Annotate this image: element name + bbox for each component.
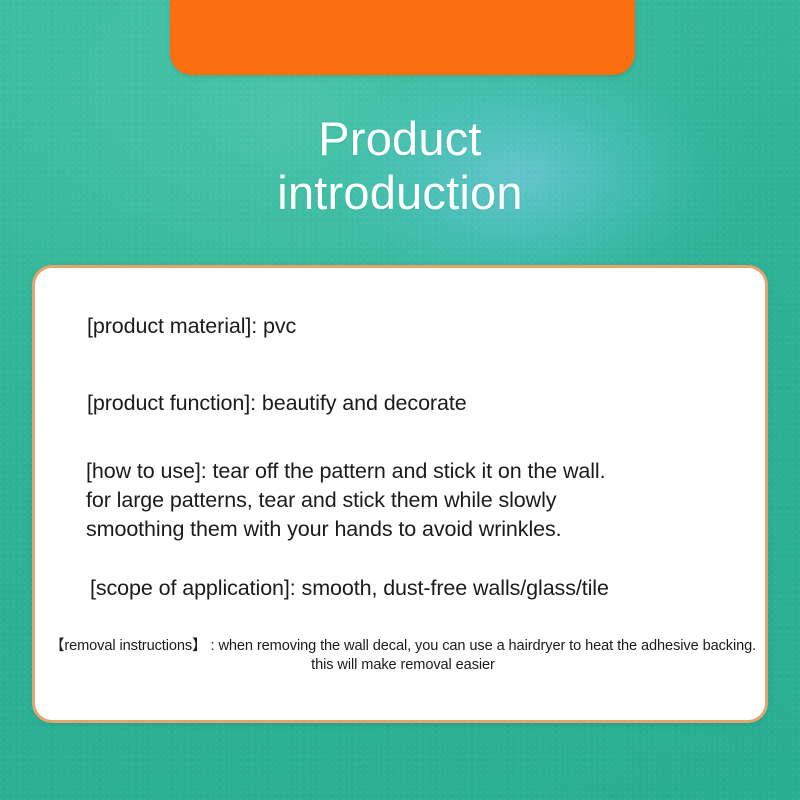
product-info-card: [product material]: pvc [product functio… [32,265,768,723]
removal-instructions-note: 【removal instructions】 : when removing t… [35,637,768,675]
product-introduction-poster: Product introduction [product material]:… [0,0,800,800]
product-function-line: [product function]: beautify and decorat… [87,389,467,418]
how-to-use-line: [how to use]: tear off the pattern and s… [86,457,605,544]
scope-of-application-line: [scope of application]: smooth, dust-fre… [90,574,609,603]
page-title: Product introduction [0,112,800,220]
product-material-line: [product material]: pvc [87,312,296,341]
orange-top-banner [170,0,635,75]
product-info-card-body: [product material]: pvc [product functio… [35,268,765,720]
